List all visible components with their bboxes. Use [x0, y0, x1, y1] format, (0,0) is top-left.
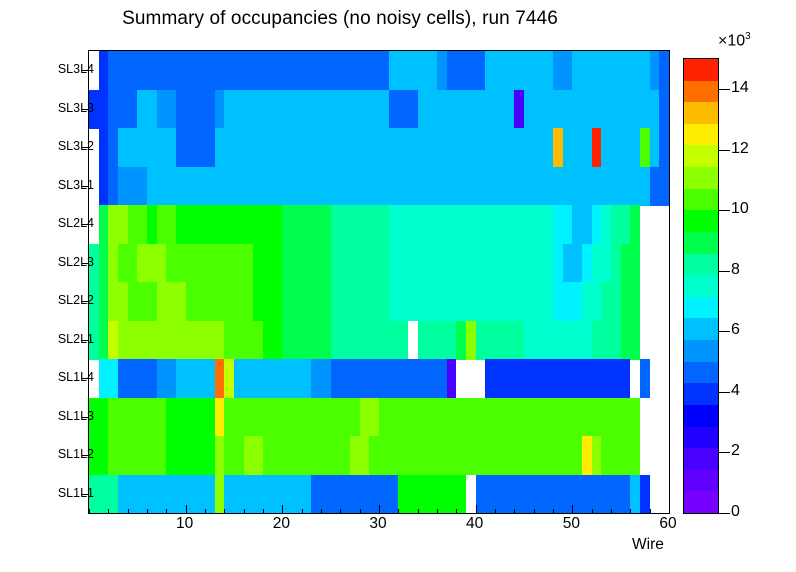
- heatmap-cell: [282, 475, 292, 514]
- y-axis-label-sl3l4: SL3L4: [58, 62, 94, 76]
- x-axis-tick-minor: [418, 509, 419, 514]
- heatmap-cell: [350, 167, 360, 206]
- heatmap-cell: [592, 205, 602, 244]
- heatmap-cell: [485, 321, 495, 360]
- heatmap-cell: [476, 205, 486, 244]
- heatmap-cell: [282, 359, 292, 398]
- heatmap-cell: [176, 128, 186, 167]
- heatmap-cell: [244, 205, 254, 244]
- colorbar-tick: [718, 271, 730, 272]
- heatmap-cell: [650, 167, 660, 206]
- heatmap-cell: [563, 205, 573, 244]
- heatmap-cell: [147, 475, 157, 514]
- heatmap-cell: [592, 51, 602, 90]
- heatmap-cell: [456, 398, 466, 437]
- heatmap-cell: [205, 359, 215, 398]
- heatmap-cell: [379, 436, 389, 475]
- heatmap-cell: [350, 128, 360, 167]
- heatmap-cell: [331, 475, 341, 514]
- heatmap-cell: [592, 282, 602, 321]
- heatmap-cell: [447, 51, 457, 90]
- colorbar-tick: [718, 513, 730, 514]
- heatmap-cell: [582, 398, 592, 437]
- colorbar[interactable]: [683, 58, 719, 514]
- heatmap-cell: [592, 359, 602, 398]
- heatmap-cell: [543, 128, 553, 167]
- heatmap-cell: [485, 398, 495, 437]
- heatmap-cell: [553, 128, 563, 167]
- heatmap-cell: [592, 90, 602, 129]
- heatmap-cell: [389, 321, 399, 360]
- heatmap-cell: [524, 167, 534, 206]
- heatmap-cell: [447, 436, 457, 475]
- heatmap-cell: [360, 321, 370, 360]
- heatmap-cell: [137, 90, 147, 129]
- heatmap-cell: [340, 128, 350, 167]
- heatmap-cell: [350, 321, 360, 360]
- heatmap-cell: [360, 282, 370, 321]
- heatmap-cell: [408, 475, 418, 514]
- heatmap-cell: [524, 475, 534, 514]
- colorbar-band: [684, 80, 718, 102]
- heatmap-cell: [137, 359, 147, 398]
- heatmap-cell: [524, 436, 534, 475]
- heatmap-cell: [650, 51, 660, 90]
- heatmap-cell: [108, 475, 118, 514]
- heatmap-cell: [640, 359, 650, 398]
- heatmap-cell: [427, 359, 437, 398]
- x-axis-tick-minor: [553, 509, 554, 514]
- heatmap-cell: [456, 321, 466, 360]
- heatmap-cell: [543, 475, 553, 514]
- heatmap-cell: [534, 51, 544, 90]
- heatmap-cell: [466, 128, 476, 167]
- colorbar-tick: [718, 392, 730, 393]
- heatmap-cell: [418, 475, 428, 514]
- heatmap-cell: [514, 475, 524, 514]
- colorbar-band: [684, 361, 718, 383]
- colorbar-band: [684, 145, 718, 167]
- heatmap-cell: [524, 244, 534, 283]
- heatmap-cell: [224, 321, 234, 360]
- heatmap-cell: [166, 436, 176, 475]
- heatmap-cell: [302, 244, 312, 283]
- heatmap-cell: [437, 167, 447, 206]
- heatmap-cell: [621, 244, 631, 283]
- heatmap-cell: [466, 282, 476, 321]
- heatmap-cell: [282, 51, 292, 90]
- colorbar-band: [684, 404, 718, 426]
- heatmap-cell: [186, 90, 196, 129]
- heatmap-cell: [485, 90, 495, 129]
- heatmap-cell: [234, 90, 244, 129]
- heatmap-cell: [408, 51, 418, 90]
- x-axis-tick-major: [669, 505, 670, 514]
- heatmap-cell: [553, 436, 563, 475]
- heatmap-cell: [253, 205, 263, 244]
- heatmap-cell: [456, 51, 466, 90]
- heatmap-cell: [311, 205, 321, 244]
- heatmap-cell: [244, 282, 254, 321]
- heatmap-cell: [186, 128, 196, 167]
- heatmap-cell: [563, 167, 573, 206]
- heatmap-cell: [215, 398, 225, 437]
- heatmap-cell: [147, 90, 157, 129]
- heatmap-cell: [476, 321, 486, 360]
- heatmap-cell: [582, 321, 592, 360]
- x-axis-tick-minor: [263, 509, 264, 514]
- heatmap-cell: [253, 436, 263, 475]
- heatmap-cell: [128, 128, 138, 167]
- heatmap-cell: [234, 436, 244, 475]
- x-axis-tick-minor: [321, 509, 322, 514]
- heatmap-cell: [408, 128, 418, 167]
- heatmap-cell: [447, 398, 457, 437]
- heatmap-cell: [147, 321, 157, 360]
- heatmap-cell: [186, 244, 196, 283]
- heatmap-cell: [331, 205, 341, 244]
- heatmap-cell: [224, 167, 234, 206]
- heatmap-cell: [195, 205, 205, 244]
- heatmap-cell: [331, 51, 341, 90]
- heatmap-cell: [176, 90, 186, 129]
- colorbar-band: [684, 448, 718, 470]
- colorbar-tick-label: 12: [731, 140, 749, 158]
- heatmap-cell: [553, 475, 563, 514]
- heatmap-cell: [408, 90, 418, 129]
- heatmap-cell: [524, 90, 534, 129]
- colorbar-band: [684, 296, 718, 318]
- heatmap-cell: [244, 475, 254, 514]
- heatmap-cell: [360, 90, 370, 129]
- heatmap-cell: [524, 128, 534, 167]
- heatmap-cell: [99, 359, 109, 398]
- heatmap-cells: [89, 51, 669, 513]
- heatmap-cell: [215, 282, 225, 321]
- heatmap-cell: [321, 51, 331, 90]
- heatmap-cell: [543, 51, 553, 90]
- colorbar-tick-label: 14: [731, 79, 749, 97]
- heatmap-cell: [350, 90, 360, 129]
- heatmap-cell: [630, 205, 640, 244]
- heatmap-cell: [543, 244, 553, 283]
- heatmap-cell: [302, 167, 312, 206]
- heatmap-cell: [427, 51, 437, 90]
- heatmap-cell: [572, 436, 582, 475]
- heatmap-cell: [137, 128, 147, 167]
- heatmap-cell: [166, 205, 176, 244]
- colorbar-tick: [718, 150, 730, 151]
- heatmap-cell: [137, 244, 147, 283]
- heatmap-cell: [592, 475, 602, 514]
- heatmap-cell: [456, 167, 466, 206]
- heatmap-cell: [495, 51, 505, 90]
- heatmap-cell: [543, 321, 553, 360]
- x-axis-tick-minor: [340, 509, 341, 514]
- heatmap-cell: [195, 359, 205, 398]
- heatmap-cell: [195, 244, 205, 283]
- root-canvas: Summary of occupancies (no noisy cells),…: [0, 0, 796, 572]
- heatmap-cell: [263, 167, 273, 206]
- heatmap-cell: [253, 167, 263, 206]
- heatmap-cell: [389, 398, 399, 437]
- heatmap-cell: [505, 205, 515, 244]
- heatmap-cell: [427, 205, 437, 244]
- heatmap-cell: [292, 359, 302, 398]
- heatmap-cell: [273, 51, 283, 90]
- heatmap-cell: [244, 398, 254, 437]
- heatmap-cell: [340, 475, 350, 514]
- heatmap-cell: [234, 282, 244, 321]
- heatmap-cell: [369, 167, 379, 206]
- heatmap-cell: [572, 321, 582, 360]
- colorbar-band: [684, 340, 718, 362]
- heatmap-cell: [611, 475, 621, 514]
- heatmap-cell: [205, 436, 215, 475]
- x-axis-tick-label: 50: [563, 515, 580, 533]
- y-axis-label-sl3l1: SL3L1: [58, 178, 94, 192]
- heatmap-cell: [263, 398, 273, 437]
- heatmap-cell: [186, 475, 196, 514]
- colorbar-bands: [684, 59, 718, 513]
- heatmap-cell: [360, 398, 370, 437]
- heatmap-cell: [601, 128, 611, 167]
- heatmap-cell: [582, 475, 592, 514]
- heatmap-cell: [630, 475, 640, 514]
- heatmap-cell: [437, 205, 447, 244]
- heatmap-cell: [427, 128, 437, 167]
- heatmap-cell: [630, 128, 640, 167]
- heatmap-cell: [331, 436, 341, 475]
- heatmap-cell: [118, 436, 128, 475]
- heatmap-cell: [186, 205, 196, 244]
- heatmap-cell: [224, 359, 234, 398]
- heatmap-cell: [118, 90, 128, 129]
- heatmap-cell: [505, 51, 515, 90]
- heatmap-cell: [611, 359, 621, 398]
- heatmap-cell: [447, 321, 457, 360]
- heatmap-cell: [398, 398, 408, 437]
- x-axis-tick-minor: [302, 509, 303, 514]
- heatmap-cell: [611, 398, 621, 437]
- heatmap-cell: [331, 398, 341, 437]
- x-axis-tick-minor: [437, 509, 438, 514]
- heatmap-cell: [137, 282, 147, 321]
- heatmap-cell: [650, 128, 660, 167]
- heatmap-cell: [292, 167, 302, 206]
- heatmap-cell: [379, 90, 389, 129]
- heatmap-cell: [118, 128, 128, 167]
- x-axis-tick-minor: [534, 509, 535, 514]
- heatmap-cell: [350, 398, 360, 437]
- heatmap-cell: [534, 128, 544, 167]
- heatmap-cell: [379, 321, 389, 360]
- x-axis-tick-minor: [398, 509, 399, 514]
- heatmap-cell: [311, 398, 321, 437]
- colorbar-tick-label: 8: [731, 261, 740, 279]
- x-axis-tick-minor: [147, 509, 148, 514]
- heatmap-cell: [234, 398, 244, 437]
- colorbar-band: [684, 167, 718, 189]
- heatmap-cell: [524, 359, 534, 398]
- heatmap-cell: [398, 321, 408, 360]
- heatmap-cell: [224, 128, 234, 167]
- heatmap-cell: [534, 321, 544, 360]
- heatmap-cell: [195, 90, 205, 129]
- heatmap-cell: [263, 128, 273, 167]
- heatmap-cell: [369, 359, 379, 398]
- heatmap-cell: [611, 282, 621, 321]
- heatmap-cell: [263, 436, 273, 475]
- heatmap-cell: [137, 321, 147, 360]
- heatmap-cell: [321, 205, 331, 244]
- heatmap-cell: [630, 398, 640, 437]
- heatmap-cell: [205, 282, 215, 321]
- heatmap-cell: [253, 244, 263, 283]
- heatmap-cell: [360, 167, 370, 206]
- heatmap-cell: [147, 205, 157, 244]
- heatmap-cell: [543, 436, 553, 475]
- heatmap-cell: [505, 359, 515, 398]
- heatmap-cell: [350, 475, 360, 514]
- heatmap-cell: [147, 282, 157, 321]
- heatmap-cell: [398, 436, 408, 475]
- heatmap-cell: [224, 436, 234, 475]
- heatmap-cell: [437, 244, 447, 283]
- heatmap-cell: [321, 475, 331, 514]
- heatmap-cell: [128, 436, 138, 475]
- heatmap-cell: [427, 436, 437, 475]
- heatmap-cell: [186, 321, 196, 360]
- x-axis-tick-major: [379, 505, 380, 514]
- heatmap-cell: [369, 205, 379, 244]
- heatmap-cell: [543, 205, 553, 244]
- colorbar-tick-label: 2: [731, 442, 740, 460]
- heatmap-cell: [157, 282, 167, 321]
- heatmap-cell: [176, 475, 186, 514]
- heatmap-cell: [99, 398, 109, 437]
- heatmap-cell: [157, 436, 167, 475]
- heatmap-cell: [215, 167, 225, 206]
- heatmap-cell: [166, 398, 176, 437]
- heatmap-cell: [108, 436, 118, 475]
- heatmap-cell: [331, 167, 341, 206]
- heatmap-plot-area[interactable]: [88, 50, 670, 514]
- heatmap-cell: [398, 51, 408, 90]
- heatmap-cell: [244, 51, 254, 90]
- heatmap-cell: [273, 436, 283, 475]
- heatmap-cell: [273, 475, 283, 514]
- heatmap-cell: [476, 51, 486, 90]
- heatmap-cell: [621, 282, 631, 321]
- heatmap-cell: [331, 282, 341, 321]
- heatmap-cell: [137, 475, 147, 514]
- heatmap-cell: [563, 244, 573, 283]
- heatmap-cell: [398, 244, 408, 283]
- heatmap-cell: [147, 398, 157, 437]
- heatmap-cell: [273, 205, 283, 244]
- heatmap-cell: [447, 475, 457, 514]
- heatmap-cell: [360, 205, 370, 244]
- heatmap-cell: [379, 244, 389, 283]
- heatmap-cell: [282, 90, 292, 129]
- heatmap-cell: [321, 436, 331, 475]
- heatmap-cell: [485, 167, 495, 206]
- heatmap-cell: [99, 475, 109, 514]
- heatmap-cell: [369, 398, 379, 437]
- heatmap-cell: [427, 321, 437, 360]
- heatmap-cell: [408, 436, 418, 475]
- heatmap-cell: [321, 398, 331, 437]
- heatmap-cell: [505, 321, 515, 360]
- heatmap-cell: [176, 205, 186, 244]
- heatmap-cell: [572, 398, 582, 437]
- heatmap-cell: [234, 244, 244, 283]
- heatmap-cell: [137, 436, 147, 475]
- heatmap-cell: [224, 282, 234, 321]
- heatmap-cell: [640, 128, 650, 167]
- heatmap-cell: [621, 475, 631, 514]
- heatmap-cell: [505, 244, 515, 283]
- heatmap-cell: [369, 128, 379, 167]
- x-axis-tick-label: 40: [466, 515, 483, 533]
- heatmap-cell: [534, 359, 544, 398]
- heatmap-cell: [195, 282, 205, 321]
- heatmap-cell: [485, 436, 495, 475]
- colorbar-band: [684, 383, 718, 405]
- heatmap-cell: [282, 436, 292, 475]
- heatmap-cell: [476, 436, 486, 475]
- x-axis-tick-minor: [611, 509, 612, 514]
- heatmap-cell: [582, 205, 592, 244]
- heatmap-cell: [147, 244, 157, 283]
- heatmap-cell: [379, 167, 389, 206]
- heatmap-cell: [302, 128, 312, 167]
- heatmap-cell: [360, 128, 370, 167]
- heatmap-cell: [611, 436, 621, 475]
- heatmap-cell: [379, 475, 389, 514]
- heatmap-cell: [476, 475, 486, 514]
- heatmap-cell: [234, 475, 244, 514]
- x-axis-tick-minor: [514, 509, 515, 514]
- heatmap-cell: [205, 244, 215, 283]
- colorbar-tick: [718, 452, 730, 453]
- heatmap-cell: [302, 205, 312, 244]
- heatmap-cell: [118, 205, 128, 244]
- heatmap-cell: [331, 321, 341, 360]
- heatmap-cell: [369, 51, 379, 90]
- heatmap-cell: [485, 359, 495, 398]
- heatmap-cell: [543, 90, 553, 129]
- heatmap-cell: [495, 90, 505, 129]
- heatmap-cell: [360, 436, 370, 475]
- heatmap-cell: [273, 167, 283, 206]
- heatmap-cell: [292, 205, 302, 244]
- heatmap-cell: [108, 90, 118, 129]
- heatmap-cell: [128, 359, 138, 398]
- heatmap-cell: [292, 436, 302, 475]
- heatmap-cell: [553, 321, 563, 360]
- heatmap-cell: [408, 167, 418, 206]
- heatmap-cell: [108, 51, 118, 90]
- heatmap-cell: [205, 398, 215, 437]
- heatmap-cell: [621, 167, 631, 206]
- heatmap-cell: [611, 244, 621, 283]
- heatmap-cell: [389, 282, 399, 321]
- heatmap-cell: [331, 244, 341, 283]
- heatmap-cell: [553, 282, 563, 321]
- heatmap-cell: [514, 321, 524, 360]
